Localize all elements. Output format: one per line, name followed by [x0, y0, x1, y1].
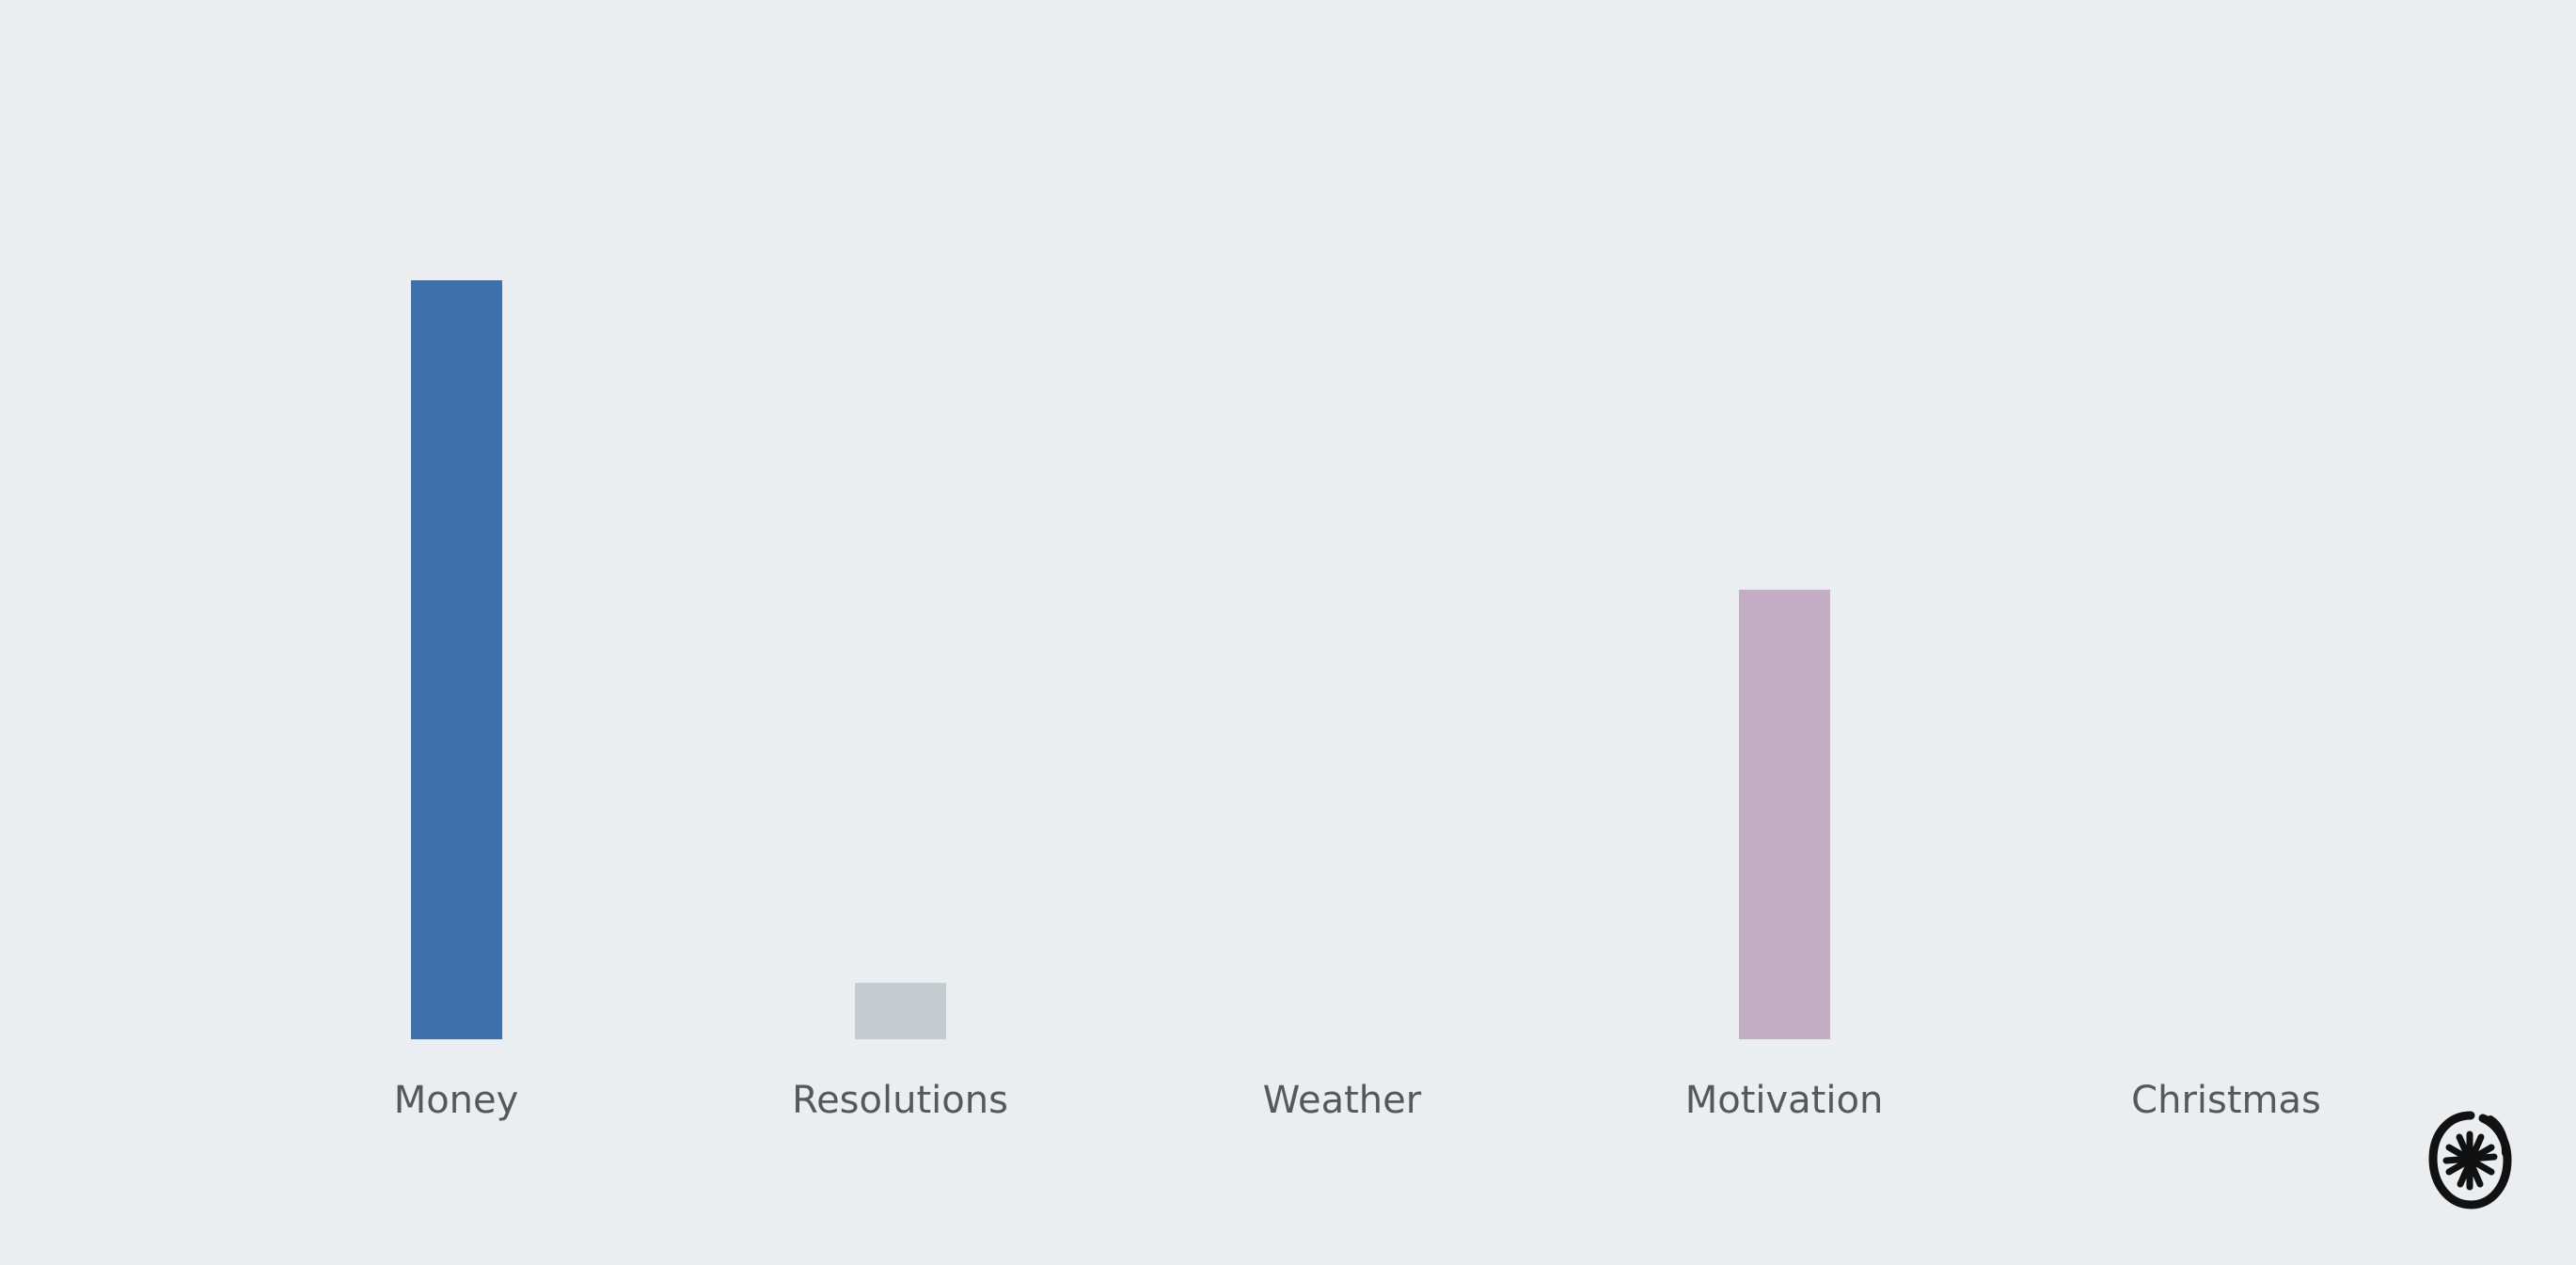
category-label-resolutions: Resolutions [679, 1082, 1121, 1119]
bar-group-christmas: Christmas [2005, 0, 2447, 1265]
bar-resolutions[interactable] [855, 983, 946, 1039]
bar-motivation[interactable] [1739, 590, 1830, 1039]
bar-money[interactable] [411, 280, 502, 1039]
bar-chart: 30 15 0 Money Resolutions Weather Motiva… [0, 0, 2576, 1265]
category-label-money: Money [235, 1082, 677, 1119]
category-label-motivation: Motivation [1563, 1082, 2005, 1119]
category-label-christmas: Christmas [2005, 1082, 2447, 1119]
plot-area: Money Resolutions Weather Motivation Chr… [0, 0, 2576, 1265]
bar-group-motivation: Motivation [1563, 0, 2005, 1265]
circled-asterisk-logo-icon [2425, 1110, 2515, 1211]
category-label-weather: Weather [1121, 1082, 1563, 1119]
bar-group-weather: Weather [1121, 0, 1563, 1265]
bar-group-resolutions: Resolutions [679, 0, 1121, 1265]
bar-group-money: Money [235, 0, 677, 1265]
